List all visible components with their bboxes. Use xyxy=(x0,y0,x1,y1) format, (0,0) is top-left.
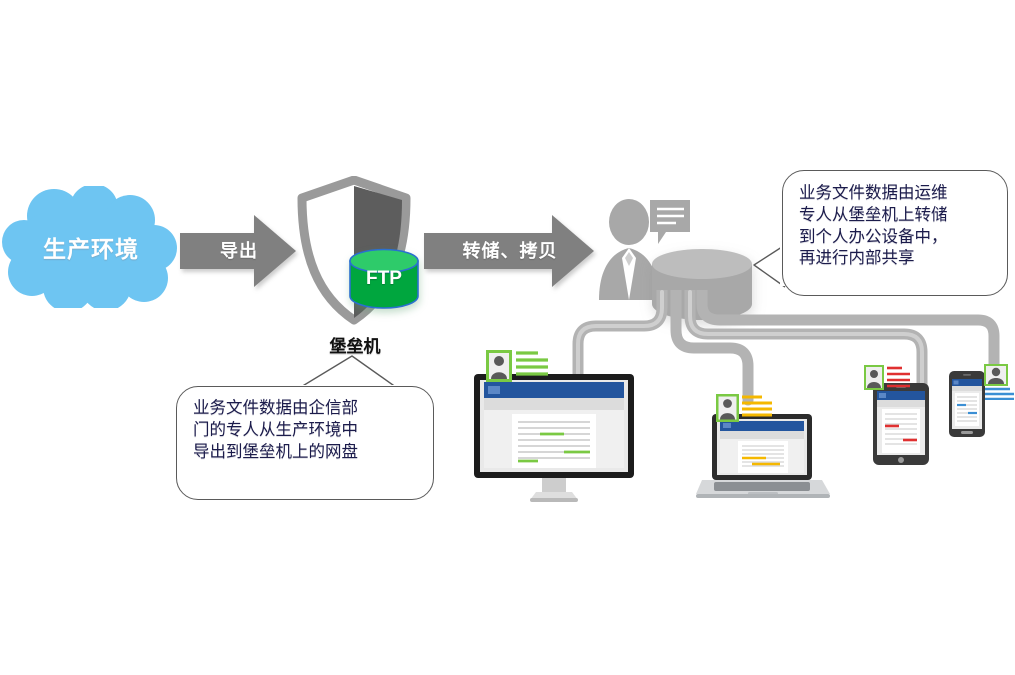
callout-right-tail xyxy=(752,243,786,289)
user-card-icon xyxy=(984,364,1015,400)
transfer-arrow: 转储、拷贝 xyxy=(424,213,596,289)
callout-left: 业务文件数据由企信部 门的专人从生产环境中 导出到堡垒机上的网盘 xyxy=(176,386,434,500)
ftp-label: FTP xyxy=(348,268,420,290)
diagram-canvas: 生产环境 导出 FTP 堡垒机 转储、拷贝 xyxy=(0,0,1015,675)
database-cylinder-icon: FTP xyxy=(348,248,420,312)
callout-left-text: 业务文件数据由企信部 门的专人从生产环境中 导出到堡垒机上的网盘 xyxy=(193,398,421,463)
production-environment-cloud: 生产环境 xyxy=(2,186,180,308)
export-arrow: 导出 xyxy=(180,213,298,289)
tablet xyxy=(872,382,930,466)
callout-right-text: 业务文件数据由运维 专人从堡垒机上转储 到个人办公设备中， 再进行内部共享 xyxy=(799,183,993,270)
user-card-icon xyxy=(864,364,912,392)
laptop xyxy=(696,412,832,502)
user-card-icon xyxy=(486,348,550,384)
callout-right: 业务文件数据由运维 专人从堡垒机上转储 到个人办公设备中， 再进行内部共享 xyxy=(782,170,1008,296)
smartphone xyxy=(948,370,986,438)
desktop-monitor xyxy=(472,372,648,504)
user-card-icon xyxy=(716,392,774,424)
cloud-label: 生产环境 xyxy=(2,230,180,264)
